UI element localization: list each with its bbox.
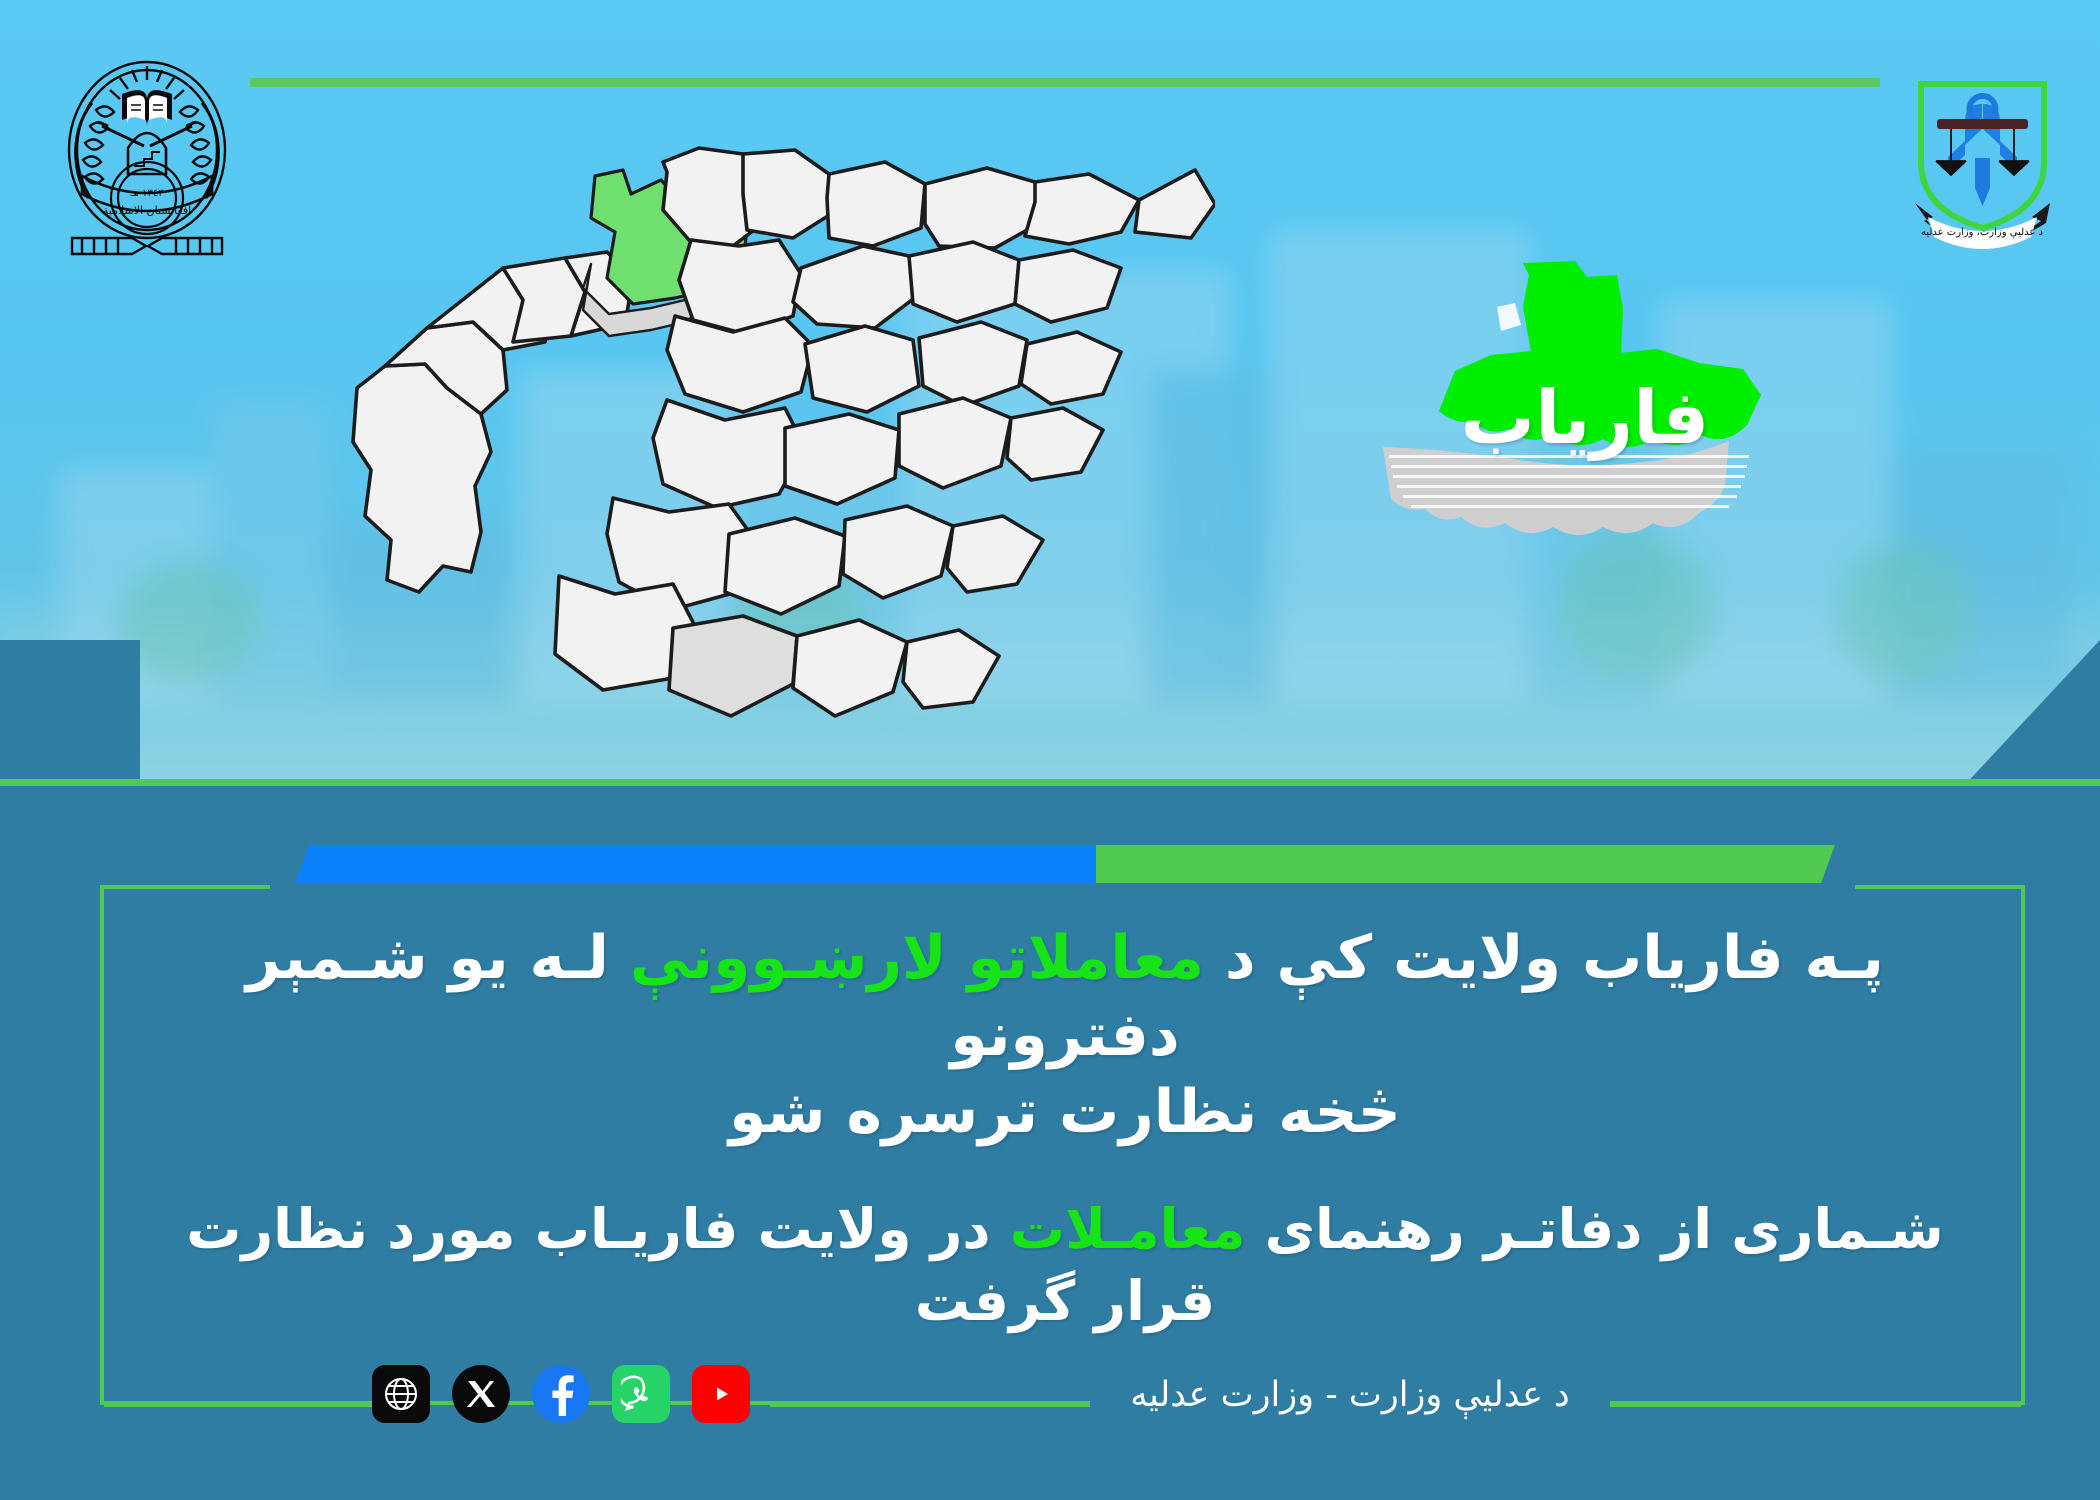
pashto-headline: پـه فاریاب ولایت کې د معاملاتو لارښـوونې… bbox=[140, 920, 1990, 1150]
afghanistan-national-emblem-icon: ١٣٤٣ هـ افغانستان الاسلامیة bbox=[52, 48, 242, 258]
pashto-headline-line1: پـه فاریاب ولایت کې د معاملاتو لارښـوونې… bbox=[140, 920, 1990, 1074]
x-twitter-icon[interactable] bbox=[452, 1365, 510, 1423]
frame-top-left-segment bbox=[100, 885, 270, 889]
header-bottom-green-rule bbox=[0, 779, 2100, 786]
dari-line1-pre: شـماری از دفاتـر رهنمای bbox=[1245, 1197, 1943, 1261]
dari-headline-line2: قرار گرفت bbox=[140, 1266, 1990, 1338]
youtube-icon[interactable] bbox=[692, 1365, 750, 1423]
frame-top-right-segment bbox=[1855, 885, 2025, 889]
dari-line1-highlight: معامـلات bbox=[1010, 1197, 1246, 1261]
footer-rule-left bbox=[104, 1403, 374, 1407]
pashto-line1-pre: پـه فاریاب ولایت کې د bbox=[1204, 923, 1884, 993]
ministry-emblem-banner-text: د عدلیې وزارت، وزارت عدلیه bbox=[1921, 227, 2043, 239]
faryab-label: فاریاب bbox=[1355, 375, 1815, 461]
afghanistan-map bbox=[215, 80, 1215, 720]
website-icon[interactable] bbox=[372, 1365, 430, 1423]
pashto-headline-line2: څخه نظارت ترسره شو bbox=[140, 1074, 1990, 1151]
svg-text:افغانستان الاسلامیة: افغانستان الاسلامیة bbox=[103, 204, 191, 217]
header-left-wedge bbox=[0, 640, 140, 790]
whatsapp-icon[interactable] bbox=[612, 1365, 670, 1423]
pashto-line1-highlight: معاملاتو لارښـوونې bbox=[630, 923, 1204, 993]
faryab-callout-shape: فاریاب bbox=[1355, 255, 1815, 585]
ministry-of-justice-emblem-icon: د عدلیې وزارت، وزارت عدلیه bbox=[1895, 62, 2070, 252]
two-tone-ribbon bbox=[295, 845, 1835, 883]
social-links bbox=[372, 1365, 750, 1423]
ribbon-blue-segment bbox=[295, 845, 1096, 883]
svg-text:١٣٤٣ هـ: ١٣٤٣ هـ bbox=[130, 188, 165, 199]
dari-headline: شـماری از دفاتـر رهنمای معامـلات در ولای… bbox=[140, 1194, 1990, 1337]
dari-line1-post: در ولایت فاریـاب مورد نظارت bbox=[186, 1197, 1010, 1261]
facebook-icon[interactable] bbox=[532, 1365, 590, 1423]
ministry-footer-text: د عدلیې وزارت - وزارت عدلیه bbox=[1090, 1375, 1610, 1415]
poster-root: ١٣٤٣ هـ افغانستان الاسلامیة bbox=[0, 0, 2100, 1500]
header-sky-panel: ١٣٤٣ هـ افغانستان الاسلامیة bbox=[0, 0, 2100, 790]
ribbon-green-segment bbox=[1096, 845, 1835, 883]
headline-text-block: پـه فاریاب ولایت کې د معاملاتو لارښـوونې… bbox=[140, 920, 1990, 1337]
dari-headline-line1: شـماری از دفاتـر رهنمای معامـلات در ولای… bbox=[140, 1194, 1990, 1266]
